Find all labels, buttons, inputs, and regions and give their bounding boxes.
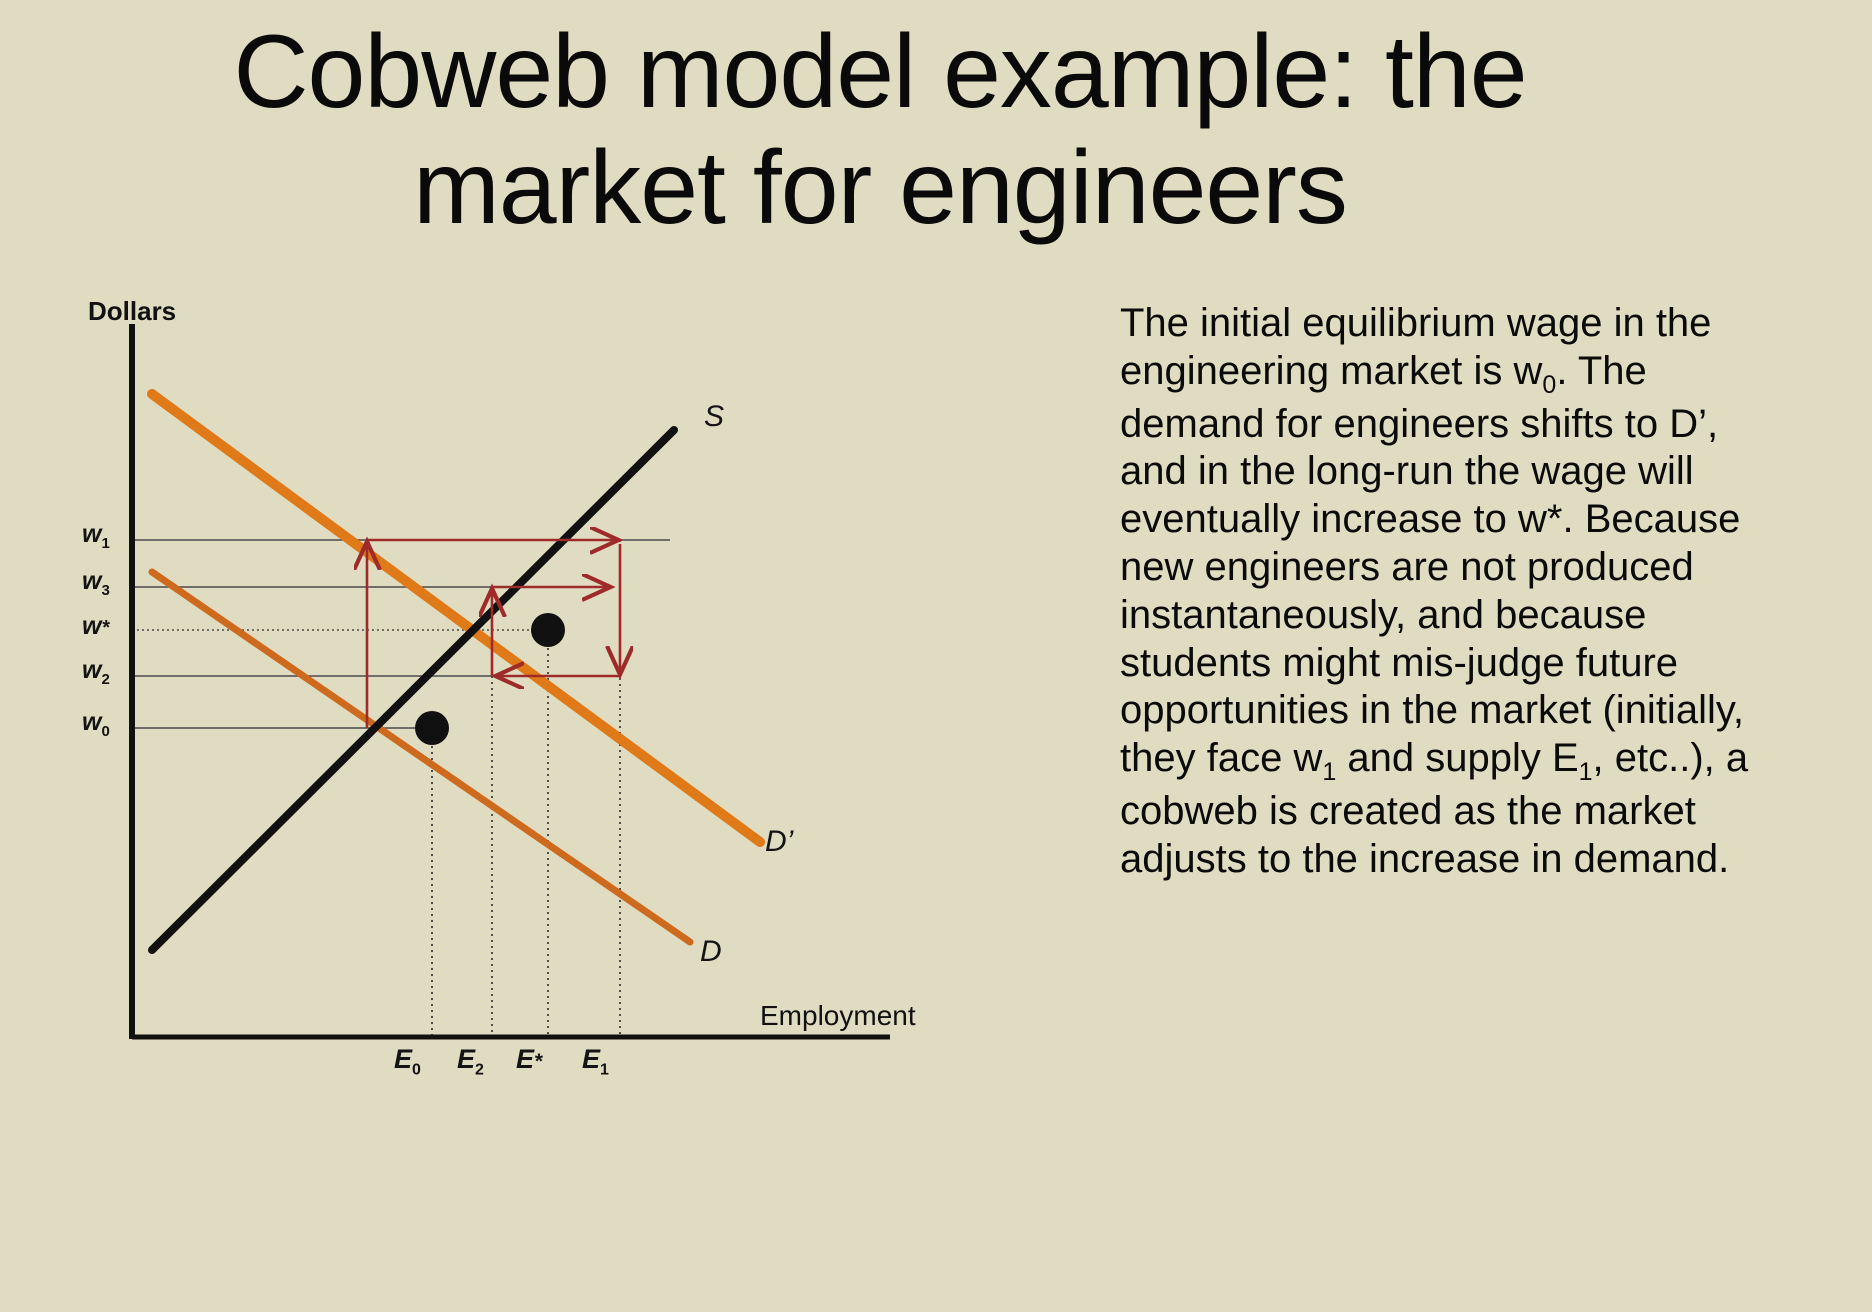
y-tick-w0: w0	[82, 708, 110, 740]
curve-label-demand-shifted: D’	[765, 825, 793, 859]
demand-curve-original	[152, 572, 690, 942]
y-tick-w1: w1	[82, 520, 110, 552]
x-tick-Estar: E*	[516, 1044, 542, 1075]
y-tick-w2: w2	[82, 656, 110, 688]
cobweb-chart-svg	[60, 282, 1060, 1292]
x-tick-E2: E2	[457, 1044, 484, 1079]
slide-root: Cobweb model example: the market for eng…	[0, 0, 1872, 1312]
x-tick-E1: E1	[582, 1044, 609, 1079]
explanation-paragraph: The initial equilibrium wage in the engi…	[1120, 300, 1780, 884]
x-tick-E0: E0	[394, 1044, 421, 1079]
equilibrium-point-initial	[415, 711, 449, 745]
title-line-2: market for engineers	[0, 130, 1760, 246]
y-tick-w3: w3	[82, 567, 110, 599]
title-line-1: Cobweb model example: the	[0, 14, 1760, 130]
page-title: Cobweb model example: the market for eng…	[0, 14, 1760, 247]
equilibrium-point-longrun	[531, 613, 565, 647]
y-tick-wstar: w*	[82, 612, 109, 641]
cobweb-diagram: Dollars Employment w1 w3 w* w2 w0 E0 E2 …	[60, 282, 1060, 1292]
demand-curve-shifted	[152, 394, 760, 842]
employment-guide-lines	[432, 540, 620, 1037]
explanation-text: The initial equilibrium wage in the engi…	[1120, 301, 1748, 881]
y-axis-label: Dollars	[88, 296, 176, 327]
supply-curve	[152, 430, 674, 950]
curve-label-supply: S	[704, 400, 724, 434]
curve-label-demand-original: D	[700, 935, 722, 969]
x-axis-label: Employment	[760, 1000, 916, 1032]
